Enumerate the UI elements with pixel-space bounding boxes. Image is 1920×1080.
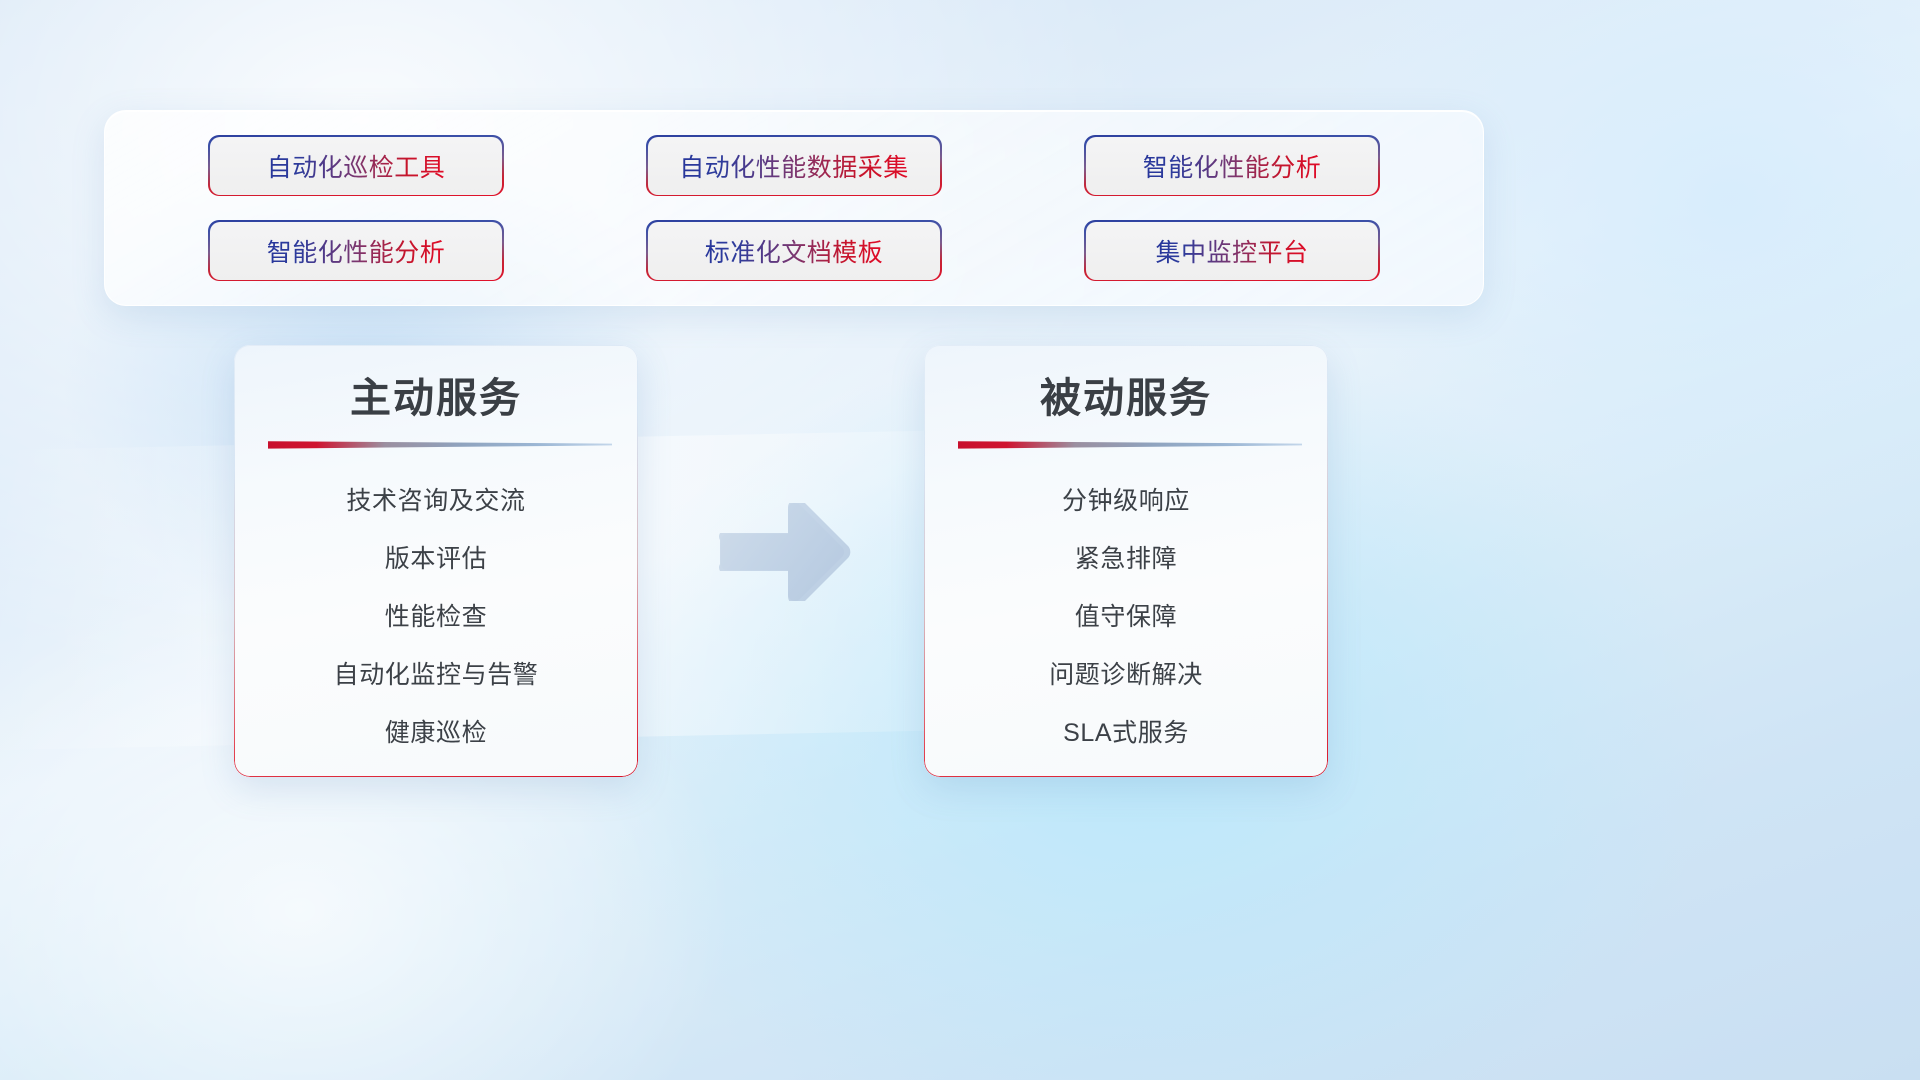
capability-chip-label: 自动化性能数据采集 <box>679 148 909 184</box>
service-item: SLA式服务 <box>958 708 1294 758</box>
service-item: 版本评估 <box>268 534 604 584</box>
capability-chip-label: 集中监控平台 <box>1155 233 1308 269</box>
title-divider <box>268 440 612 450</box>
arrow-right-icon <box>718 503 852 601</box>
service-card-reactive[interactable]: 被动服务 <box>924 345 1328 777</box>
capability-chip[interactable]: 自动化巡检工具 <box>210 137 502 195</box>
capability-chip-label: 智能化性能分析 <box>1143 148 1322 184</box>
capability-chip-label: 智能化性能分析 <box>267 233 446 269</box>
service-item: 性能检查 <box>268 592 604 642</box>
title-divider <box>958 440 1302 450</box>
service-card-title: 主动服务 <box>268 375 604 422</box>
title-divider-icon <box>958 440 1302 450</box>
service-item: 值守保障 <box>958 592 1294 642</box>
capability-chip[interactable]: 自动化性能数据采集 <box>648 137 940 195</box>
service-item: 健康巡检 <box>268 708 604 758</box>
capability-chip-grid: 自动化巡检工具 自动化性能数据采集 智能化性能分析 智能化性能分析 标准化文档模… <box>105 111 1483 305</box>
capability-chip[interactable]: 智能化性能分析 <box>210 222 502 280</box>
capability-chip-label: 自动化巡检工具 <box>267 148 446 184</box>
service-item-list: 分钟级响应 紧急排障 值守保障 问题诊断解决 SLA式服务 <box>958 476 1294 758</box>
service-card-title: 被动服务 <box>958 375 1294 422</box>
capabilities-panel: 自动化巡检工具 自动化性能数据采集 智能化性能分析 智能化性能分析 标准化文档模… <box>104 110 1484 306</box>
capability-chip-label: 标准化文档模板 <box>705 233 884 269</box>
capability-chip[interactable]: 集中监控平台 <box>1086 222 1378 280</box>
capability-chip[interactable]: 标准化文档模板 <box>648 222 940 280</box>
capability-chip[interactable]: 智能化性能分析 <box>1086 137 1378 195</box>
service-item-list: 技术咨询及交流 版本评估 性能检查 自动化监控与告警 健康巡检 <box>268 476 604 758</box>
service-item: 自动化监控与告警 <box>268 650 604 700</box>
slide-canvas: 自动化巡检工具 自动化性能数据采集 智能化性能分析 智能化性能分析 标准化文档模… <box>0 0 1920 1080</box>
service-item: 紧急排障 <box>958 534 1294 584</box>
service-item: 分钟级响应 <box>958 476 1294 526</box>
title-divider-icon <box>268 440 612 450</box>
arrow-right-glyph <box>718 503 852 601</box>
service-card-proactive[interactable]: 主动服务 <box>234 345 638 777</box>
service-item: 技术咨询及交流 <box>268 476 604 526</box>
service-item: 问题诊断解决 <box>958 650 1294 700</box>
